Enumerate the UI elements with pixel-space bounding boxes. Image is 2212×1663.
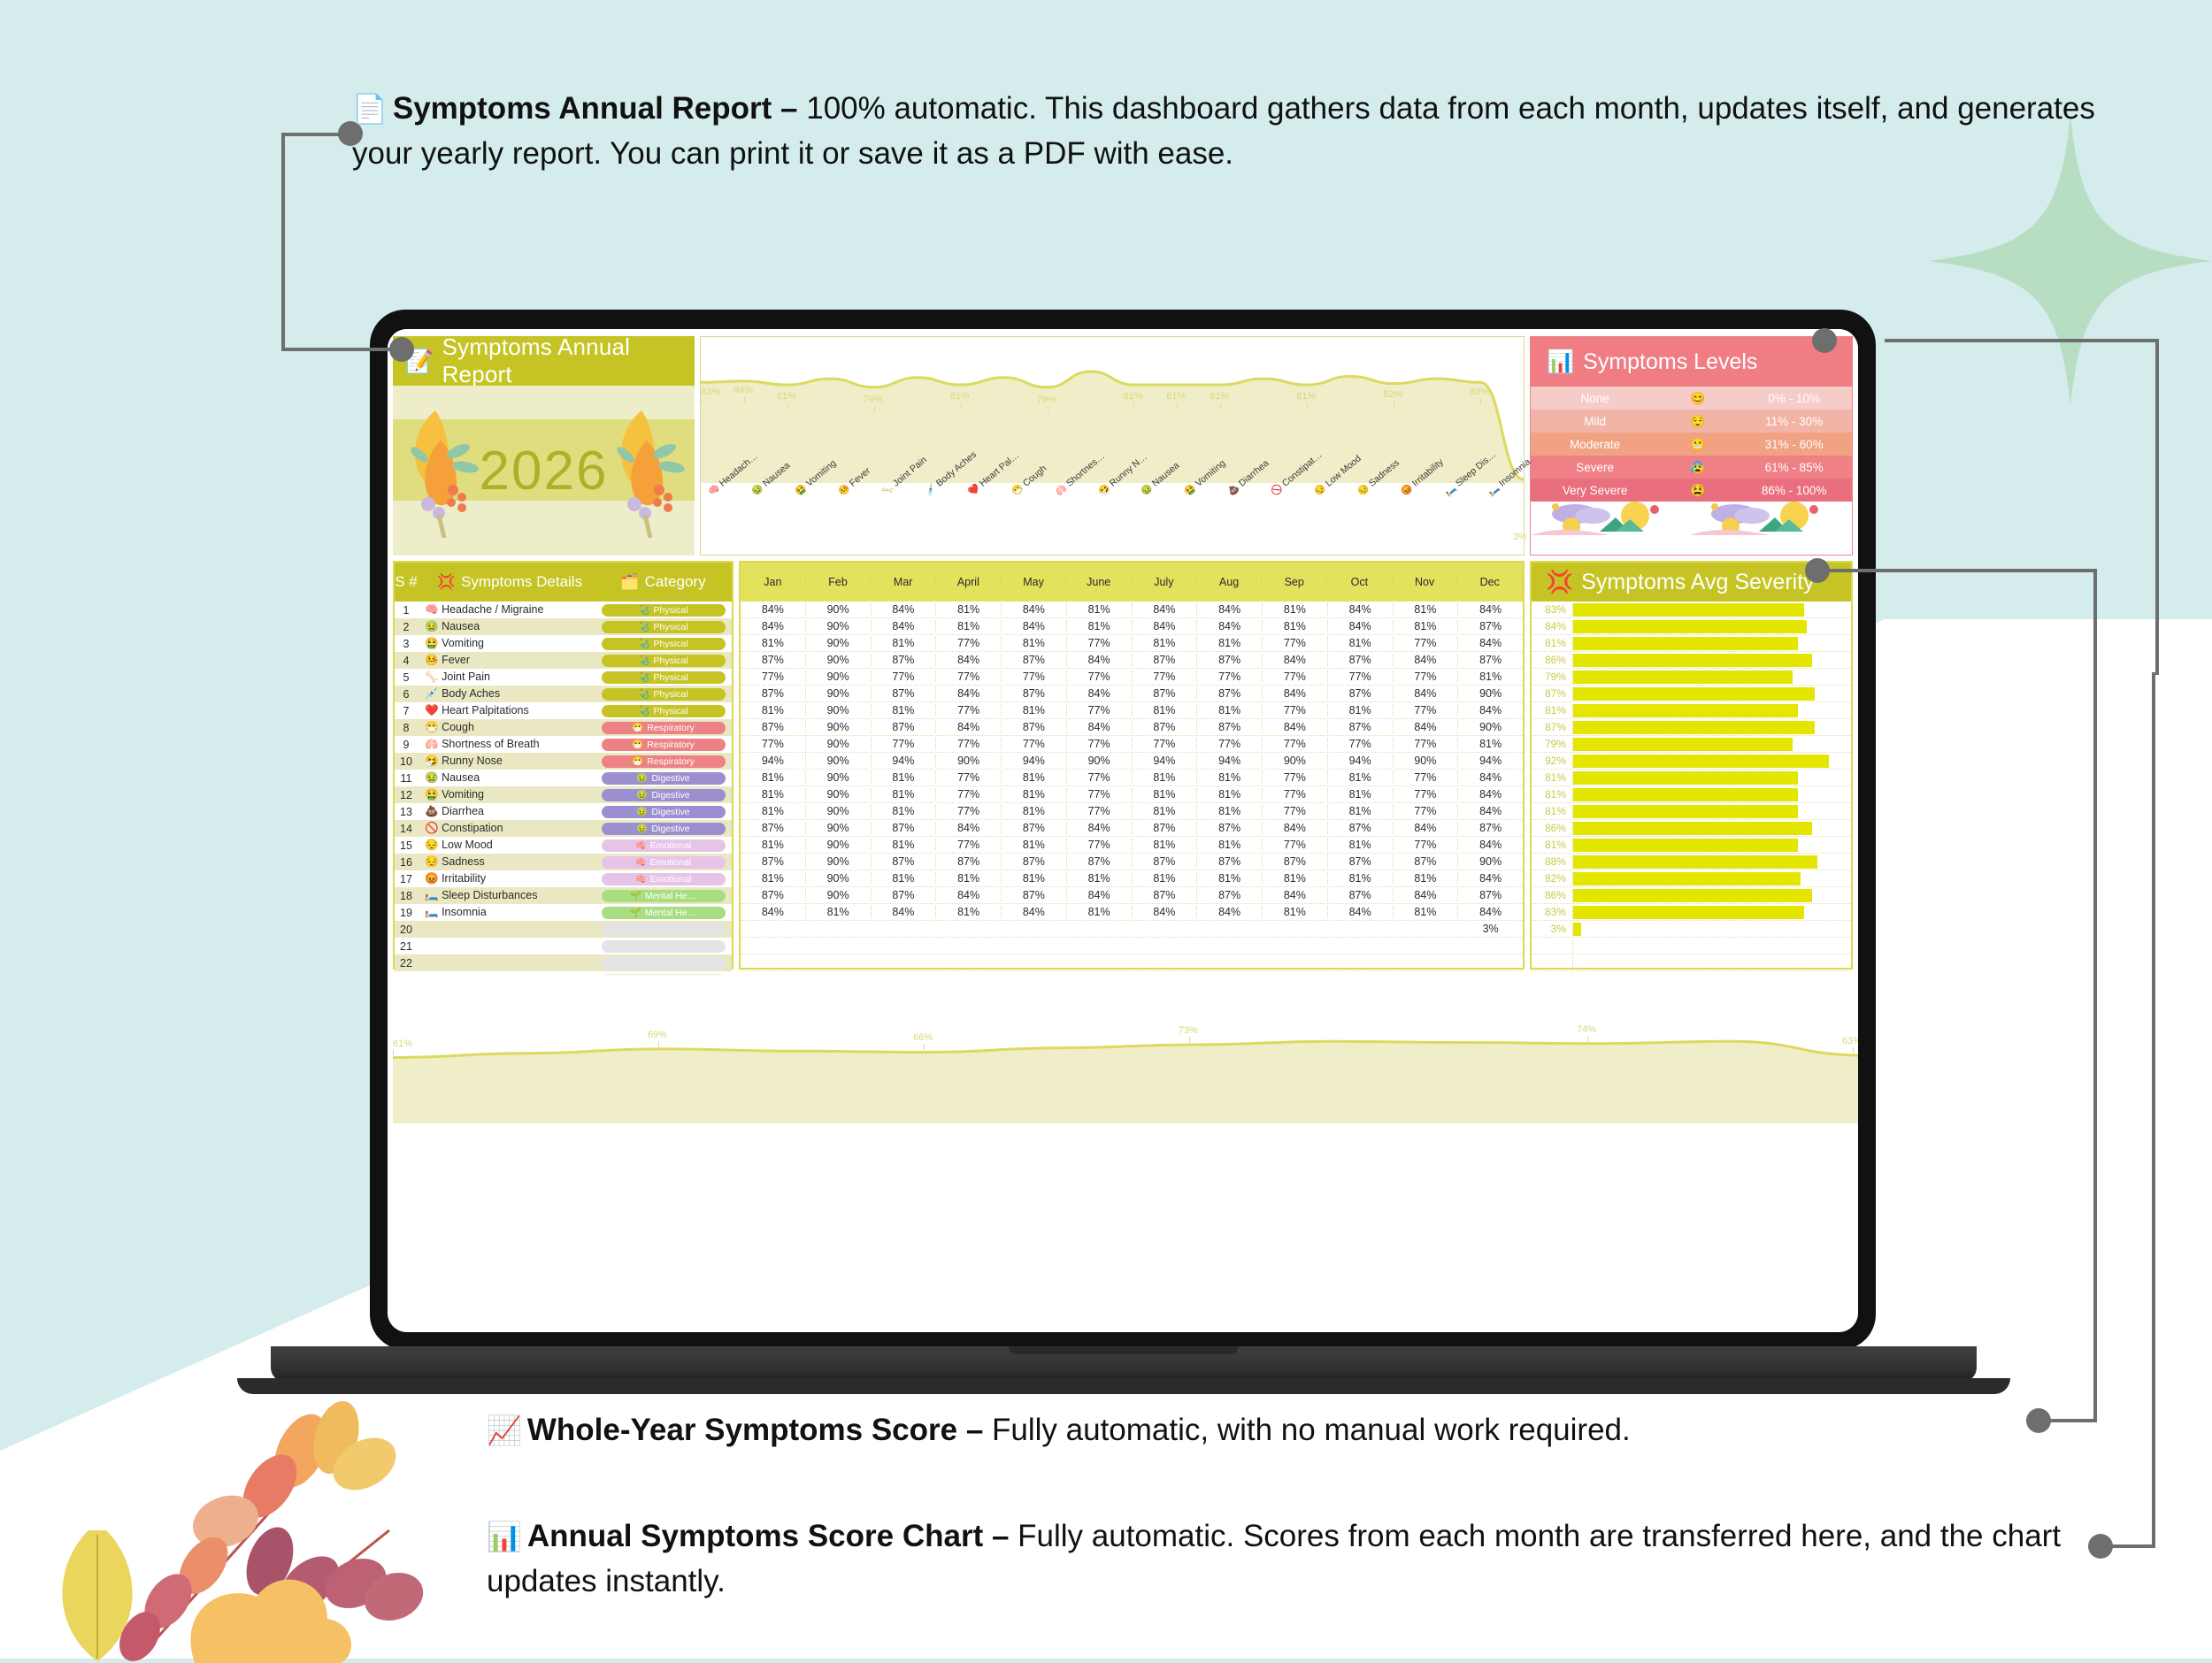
month-data-cell[interactable]: 87% [1458, 654, 1523, 666]
month-data-cell[interactable]: 77% [1067, 704, 1133, 717]
month-data-cell[interactable]: 90% [806, 637, 872, 649]
month-data-cell[interactable]: 81% [1197, 637, 1263, 649]
month-data-cell[interactable]: 77% [1263, 738, 1328, 750]
month-data-cell[interactable]: 87% [1133, 855, 1198, 868]
month-data-cell[interactable]: 90% [1263, 755, 1328, 767]
month-data-cell[interactable]: 84% [1394, 889, 1459, 901]
month-data-cell[interactable]: 81% [1197, 839, 1263, 851]
table-row[interactable]: 2🤢 Nausea🩺Physical [395, 618, 732, 635]
month-data-cell[interactable]: 81% [872, 771, 937, 784]
month-data-cell[interactable]: 90% [806, 671, 872, 683]
month-data-cell[interactable]: 77% [1394, 738, 1459, 750]
month-data-row[interactable]: 87%90%87%84%87%84%87%87%84%87%84%87% [741, 820, 1523, 837]
month-data-cell[interactable]: 81% [1002, 805, 1067, 817]
month-data-cell[interactable]: 77% [1394, 637, 1459, 649]
month-data-row[interactable]: 81%90%81%77%81%77%81%81%77%81%77%84% [741, 635, 1523, 652]
month-data-cell[interactable]: 84% [1002, 620, 1067, 632]
month-data-cell[interactable]: 90% [1458, 855, 1523, 868]
month-data-cell[interactable]: 90% [1394, 755, 1459, 767]
month-data-cell[interactable]: 81% [741, 788, 806, 801]
month-data-cell[interactable]: 84% [1458, 788, 1523, 801]
month-data-row[interactable]: 77%90%77%77%77%77%77%77%77%77%77%81% [741, 736, 1523, 753]
month-data-cell[interactable]: 87% [1133, 822, 1198, 834]
table-row[interactable]: 11🤢 Nausea🤢Digestive [395, 770, 732, 786]
month-data-cell[interactable]: 84% [1328, 603, 1394, 616]
month-data-cell[interactable]: 81% [1197, 771, 1263, 784]
month-data-cell[interactable]: 84% [1133, 906, 1198, 918]
severity-percent: 87% [1532, 687, 1572, 700]
month-data-cell[interactable]: 84% [1458, 839, 1523, 851]
month-data-cell[interactable]: 87% [872, 822, 937, 834]
chart-point-tick [924, 1044, 925, 1052]
month-data-cell[interactable]: 81% [741, 771, 806, 784]
month-data-cell[interactable]: 77% [1394, 771, 1459, 784]
month-data-cell[interactable]: 87% [1002, 687, 1067, 700]
month-data-row[interactable]: 81%90%81%77%81%77%81%81%77%81%77%84% [741, 837, 1523, 854]
table-row[interactable]: 15😔 Low Mood🧠Emotional [395, 837, 732, 854]
table-row[interactable]: 10🤧 Runny Nose😷Respiratory [395, 753, 732, 770]
row-serial: 15 [395, 839, 418, 852]
severity-percent: 86% [1532, 654, 1572, 666]
month-data-cell[interactable]: 84% [1458, 872, 1523, 885]
month-data-cell[interactable]: 84% [1002, 906, 1067, 918]
month-data-row[interactable]: 87%90%87%84%87%84%87%87%84%87%84%87% [741, 887, 1523, 904]
month-data-cell[interactable]: 81% [741, 839, 806, 851]
table-row[interactable]: 21 [395, 938, 732, 954]
month-data-cell[interactable]: 84% [1328, 620, 1394, 632]
month-data-cell[interactable]: 81% [1394, 906, 1459, 918]
month-data-cell[interactable]: 81% [1002, 771, 1067, 784]
callout-dot-botcaption [2088, 1534, 2113, 1559]
month-data-cell[interactable]: 84% [872, 620, 937, 632]
month-data-cell[interactable]: 81% [741, 872, 806, 885]
month-data-cell[interactable]: 90% [806, 620, 872, 632]
category-emoji-icon: 🩺 [638, 638, 649, 649]
month-data-row[interactable] [741, 938, 1523, 954]
month-data-cell[interactable]: 81% [936, 906, 1002, 918]
month-data-cell[interactable]: 87% [1458, 620, 1523, 632]
month-data-cell[interactable]: 87% [1002, 889, 1067, 901]
month-data-cell[interactable]: 81% [936, 620, 1002, 632]
month-data-cell[interactable]: 77% [1394, 704, 1459, 717]
chart-point-tick [658, 1041, 659, 1049]
month-data-cell[interactable]: 84% [936, 654, 1002, 666]
month-data-cell[interactable]: 94% [1002, 755, 1067, 767]
month-data-cell[interactable]: 87% [1458, 822, 1523, 834]
month-data-cell[interactable]: 77% [1263, 771, 1328, 784]
month-data-cell[interactable]: 84% [1067, 654, 1133, 666]
month-data-row[interactable] [741, 954, 1523, 971]
month-data-cell[interactable]: 87% [1197, 822, 1263, 834]
chart-point-label: 74% [1577, 1024, 1596, 1035]
month-data-cell[interactable]: 87% [1002, 822, 1067, 834]
month-data-cell[interactable]: 84% [1458, 603, 1523, 616]
month-data-cell[interactable]: 87% [1328, 721, 1394, 733]
chart-point-tick [1307, 402, 1308, 409]
row-symptom-name: 🧠 Headache / Migraine [418, 603, 595, 617]
month-data-cell[interactable]: 90% [806, 872, 872, 885]
level-row: None😊0% - 10% [1531, 387, 1852, 410]
month-data-cell[interactable]: 81% [1133, 704, 1198, 717]
table-row[interactable]: 12🤮 Vomiting🤢Digestive [395, 786, 732, 803]
month-data-cell[interactable]: 81% [1002, 788, 1067, 801]
month-data-cell[interactable]: 81% [1067, 906, 1133, 918]
month-data-cell[interactable]: 77% [741, 671, 806, 683]
month-data-cell[interactable]: 77% [1197, 738, 1263, 750]
month-data-cell[interactable]: 84% [936, 889, 1002, 901]
month-data-cell[interactable]: 84% [1263, 654, 1328, 666]
month-data-row[interactable]: 84%90%84%81%84%81%84%84%81%84%81%87% [741, 618, 1523, 635]
month-data-cell[interactable]: 84% [1458, 637, 1523, 649]
month-data-row[interactable]: 84%90%84%81%84%81%84%84%81%84%81%84% [741, 602, 1523, 618]
month-data-row[interactable]: 81%90%81%77%81%77%81%81%77%81%77%84% [741, 770, 1523, 786]
month-data-cell[interactable]: 81% [1328, 637, 1394, 649]
month-data-cell[interactable]: 87% [1197, 654, 1263, 666]
month-data-cell[interactable]: 81% [1394, 872, 1459, 885]
month-data-cell[interactable]: 81% [1002, 704, 1067, 717]
month-data-cell[interactable]: 81% [1197, 805, 1263, 817]
month-data-cell[interactable]: 77% [1263, 637, 1328, 649]
month-data-cell[interactable]: 84% [1067, 822, 1133, 834]
month-data-cell[interactable]: 77% [1263, 805, 1328, 817]
month-data-cell[interactable]: 77% [1067, 805, 1133, 817]
month-data-cell[interactable]: 87% [741, 687, 806, 700]
month-data-cell[interactable]: 87% [1067, 855, 1133, 868]
month-data-cell[interactable]: 87% [872, 654, 937, 666]
month-data-cell[interactable]: 87% [936, 855, 1002, 868]
month-data-cell[interactable]: 87% [1002, 721, 1067, 733]
month-data-cell[interactable]: 87% [1197, 889, 1263, 901]
month-data-cell[interactable]: 77% [936, 738, 1002, 750]
month-data-cell[interactable]: 77% [872, 738, 937, 750]
month-data-cell[interactable]: 90% [806, 839, 872, 851]
month-data-cell[interactable]: 81% [1458, 671, 1523, 683]
month-data-cell[interactable]: 81% [1133, 637, 1198, 649]
month-data-cell[interactable]: 77% [936, 671, 1002, 683]
table-row[interactable]: 14🚫 Constipation🤢Digestive [395, 820, 732, 837]
month-data-cell[interactable]: 90% [806, 755, 872, 767]
month-data-cell[interactable]: 81% [1067, 603, 1133, 616]
month-data-cell[interactable]: 87% [1328, 822, 1394, 834]
month-data-cell[interactable]: 81% [1328, 805, 1394, 817]
month-data-cell[interactable]: 90% [806, 721, 872, 733]
month-data-cell[interactable]: 87% [872, 889, 937, 901]
month-data-cell[interactable]: 81% [806, 906, 872, 918]
month-data-cell[interactable]: 81% [1263, 872, 1328, 885]
category-label: Physical [653, 672, 687, 683]
month-data-cell[interactable]: 84% [1328, 906, 1394, 918]
month-data-row[interactable]: 87%90%87%84%87%84%87%87%84%87%84%90% [741, 686, 1523, 702]
month-data-cell[interactable]: 87% [741, 889, 806, 901]
month-data-cell[interactable]: 81% [741, 805, 806, 817]
month-data-cell[interactable]: 87% [1133, 721, 1198, 733]
month-data-cell[interactable]: 81% [872, 704, 937, 717]
month-data-cell[interactable]: 84% [1394, 654, 1459, 666]
month-data-cell[interactable]: 81% [872, 805, 937, 817]
row-symptom-name: 💉 Body Aches [418, 687, 595, 701]
month-data-cell[interactable]: 87% [1263, 855, 1328, 868]
table-row[interactable]: 20 [395, 921, 732, 938]
table-row[interactable]: 22 [395, 954, 732, 971]
table-row[interactable]: 1🧠 Headache / Migraine🩺Physical [395, 602, 732, 618]
month-data-cell[interactable]: 77% [872, 671, 937, 683]
month-data-cell[interactable]: 77% [1067, 671, 1133, 683]
table-row[interactable]: 16😔 Sadness🧠Emotional [395, 854, 732, 870]
month-data-row[interactable]: 94%90%94%90%94%90%94%94%90%94%90%94% [741, 753, 1523, 770]
month-data-cell[interactable]: 77% [1328, 738, 1394, 750]
month-data-cell[interactable]: 77% [741, 738, 806, 750]
month-data-cell[interactable]: 81% [1197, 788, 1263, 801]
month-data-cell[interactable]: 81% [936, 603, 1002, 616]
month-data-cell[interactable]: 81% [741, 704, 806, 717]
month-data-cell[interactable]: 90% [1458, 687, 1523, 700]
month-data-cell[interactable]: 84% [1394, 721, 1459, 733]
month-data-cell[interactable]: 87% [1394, 855, 1459, 868]
month-data-cell[interactable]: 87% [1197, 687, 1263, 700]
month-data-cell[interactable]: 84% [872, 603, 937, 616]
month-data-cell[interactable]: 81% [1394, 620, 1459, 632]
month-data-cell[interactable]: 81% [1133, 788, 1198, 801]
month-data-cell[interactable]: 90% [936, 755, 1002, 767]
month-data-cell[interactable]: 90% [806, 687, 872, 700]
month-data-cell[interactable]: 84% [1002, 603, 1067, 616]
month-data-cell[interactable]: 84% [936, 721, 1002, 733]
month-data-cell[interactable]: 84% [1263, 822, 1328, 834]
month-data-cell[interactable]: 84% [1394, 687, 1459, 700]
category-emoji-icon: 🩺 [638, 604, 649, 616]
month-data-cell[interactable]: 84% [741, 603, 806, 616]
month-data-row[interactable]: 77%90%77%77%77%77%77%77%77%77%77%81% [741, 669, 1523, 686]
month-data-cell[interactable]: 81% [1133, 805, 1198, 817]
month-data-cell[interactable]: 87% [1197, 855, 1263, 868]
month-data-cell[interactable]: 87% [1458, 889, 1523, 901]
month-data-cell[interactable]: 87% [1197, 721, 1263, 733]
month-data-cell[interactable]: 90% [806, 889, 872, 901]
month-data-cell[interactable]: 81% [1263, 906, 1328, 918]
month-header-cell: Sep [1262, 576, 1327, 588]
month-data-cell[interactable]: 81% [1328, 704, 1394, 717]
month-data-cell[interactable]: 77% [1394, 805, 1459, 817]
month-data-cell[interactable]: 77% [1067, 788, 1133, 801]
month-data-cell[interactable]: 84% [1067, 889, 1133, 901]
month-data-cell[interactable]: 77% [936, 771, 1002, 784]
month-data-cell[interactable]: 87% [1133, 654, 1198, 666]
month-data-cell[interactable]: 81% [872, 637, 937, 649]
month-data-cell[interactable]: 84% [741, 620, 806, 632]
month-data-cell[interactable]: 84% [741, 906, 806, 918]
month-data-cell[interactable]: 94% [1458, 755, 1523, 767]
month-data-cell[interactable]: 3% [1458, 923, 1523, 935]
month-data-row[interactable]: 81%90%81%81%81%81%81%81%81%81%81%84% [741, 870, 1523, 887]
month-data-cell[interactable]: 77% [1263, 704, 1328, 717]
month-data-cell[interactable]: 81% [1133, 771, 1198, 784]
month-data-cell[interactable]: 81% [872, 872, 937, 885]
month-data-row[interactable]: 81%90%81%77%81%77%81%81%77%81%77%84% [741, 786, 1523, 803]
month-data-cell[interactable]: 81% [1328, 771, 1394, 784]
month-data-row[interactable]: 87%90%87%87%87%87%87%87%87%87%87%90% [741, 854, 1523, 870]
month-data-cell[interactable]: 87% [741, 855, 806, 868]
month-data-cell[interactable]: 81% [1067, 872, 1133, 885]
level-emoji-icon: 😊 [1659, 391, 1736, 406]
month-data-cell[interactable]: 87% [1133, 889, 1198, 901]
month-data-cell[interactable]: 87% [1328, 889, 1394, 901]
month-data-cell[interactable]: 84% [1458, 771, 1523, 784]
month-data-cell[interactable]: 77% [1067, 738, 1133, 750]
month-data-cell[interactable]: 81% [741, 637, 806, 649]
month-data-cell[interactable]: 84% [1133, 603, 1198, 616]
month-data-cell[interactable]: 90% [1458, 721, 1523, 733]
month-data-cell[interactable]: 90% [1067, 755, 1133, 767]
month-data-cell[interactable]: 81% [1394, 603, 1459, 616]
month-data-cell[interactable]: 90% [806, 654, 872, 666]
month-data-cell[interactable]: 94% [1133, 755, 1198, 767]
month-data-cell[interactable]: 81% [1067, 620, 1133, 632]
month-data-cell[interactable]: 90% [806, 771, 872, 784]
month-data-cell[interactable]: 81% [1197, 872, 1263, 885]
month-data-cell[interactable]: 77% [1328, 671, 1394, 683]
month-data-cell[interactable]: 84% [1458, 805, 1523, 817]
month-data-cell[interactable]: 87% [1328, 654, 1394, 666]
month-data-cell[interactable]: 81% [1328, 788, 1394, 801]
month-data-cell[interactable]: 94% [872, 755, 937, 767]
month-data-cell[interactable]: 84% [1458, 704, 1523, 717]
table-row[interactable]: 7❤️ Heart Palpitations🩺Physical [395, 702, 732, 719]
table-row[interactable]: 3🤮 Vomiting🩺Physical [395, 635, 732, 652]
month-data-row[interactable]: 81%90%81%77%81%77%81%81%77%81%77%84% [741, 803, 1523, 820]
month-data-cell[interactable]: 81% [1263, 603, 1328, 616]
category-emoji-icon: 🧠 [635, 839, 647, 851]
table-row[interactable]: 17😡 Irritability🧠Emotional [395, 870, 732, 887]
category-label: Digestive [651, 790, 689, 801]
month-data-cell[interactable]: 84% [1263, 687, 1328, 700]
xaxis-emoji-icon: 😷 [1010, 482, 1025, 498]
month-data-cell[interactable]: 90% [806, 788, 872, 801]
month-data-cell[interactable]: 81% [1458, 738, 1523, 750]
month-data-cell[interactable]: 90% [806, 805, 872, 817]
month-data-cell[interactable]: 81% [1133, 872, 1198, 885]
month-data-cell[interactable]: 84% [1394, 822, 1459, 834]
symptom-label: Constipation [442, 822, 503, 834]
row-category: 🧠Emotional [595, 873, 732, 885]
month-data-cell[interactable]: 77% [1067, 637, 1133, 649]
table-row[interactable]: 8😷 Cough😷Respiratory [395, 719, 732, 736]
month-data-cell[interactable]: 84% [936, 822, 1002, 834]
month-data-cell[interactable]: 77% [1263, 788, 1328, 801]
month-data-cell[interactable]: 77% [1263, 839, 1328, 851]
month-data-cell[interactable]: 77% [1002, 671, 1067, 683]
month-data-cell[interactable]: 81% [1197, 704, 1263, 717]
month-data-cell[interactable]: 87% [872, 687, 937, 700]
month-data-cell[interactable]: 77% [1263, 671, 1328, 683]
month-data-cell[interactable]: 77% [936, 788, 1002, 801]
month-data-cell[interactable]: 87% [1002, 855, 1067, 868]
month-data-cell[interactable]: 77% [1133, 671, 1198, 683]
month-data-cell[interactable]: 94% [1328, 755, 1394, 767]
month-data-cell[interactable]: 77% [936, 805, 1002, 817]
month-data-cell[interactable]: 90% [806, 822, 872, 834]
month-data-cell[interactable]: 77% [1394, 839, 1459, 851]
month-data-row[interactable]: 81%90%81%77%81%77%81%81%77%81%77%84% [741, 702, 1523, 719]
month-data-cell[interactable]: 90% [806, 603, 872, 616]
month-data-cell[interactable]: 84% [1263, 721, 1328, 733]
table-row[interactable]: 19🛏️ Insomnia🌱Mental He… [395, 904, 732, 921]
month-data-cell[interactable]: 90% [806, 855, 872, 868]
month-data-cell[interactable]: 87% [741, 721, 806, 733]
month-data-cell[interactable]: 87% [1328, 855, 1394, 868]
table-row[interactable]: 18🛏️ Sleep Disturbances🌱Mental He… [395, 887, 732, 904]
month-data-cell[interactable]: 81% [1133, 839, 1198, 851]
month-data-cell[interactable]: 77% [1133, 738, 1198, 750]
month-data-cell[interactable]: 84% [1263, 889, 1328, 901]
month-data-cell[interactable]: 87% [741, 654, 806, 666]
month-data-cell[interactable]: 81% [872, 788, 937, 801]
month-data-cell[interactable]: 87% [872, 855, 937, 868]
month-data-cell[interactable]: 84% [1133, 620, 1198, 632]
row-serial: 10 [395, 755, 418, 768]
month-data-cell[interactable]: 77% [1394, 788, 1459, 801]
month-data-cell[interactable]: 84% [1197, 603, 1263, 616]
month-data-cell[interactable]: 77% [936, 704, 1002, 717]
month-data-cell[interactable]: 87% [1133, 687, 1198, 700]
month-data-row[interactable]: 87%90%87%84%87%84%87%87%84%87%84%90% [741, 719, 1523, 736]
month-data-cell[interactable]: 87% [872, 721, 937, 733]
month-data-row[interactable]: 3% [741, 921, 1523, 938]
month-data-cell[interactable]: 81% [872, 839, 937, 851]
month-data-row[interactable]: 84%81%84%81%84%81%84%84%81%84%81%84% [741, 904, 1523, 921]
month-data-cell[interactable]: 84% [1197, 906, 1263, 918]
month-data-cell[interactable]: 87% [741, 822, 806, 834]
month-data-cell[interactable]: 81% [1328, 872, 1394, 885]
severity-percent: 83% [1532, 603, 1572, 616]
month-data-cell[interactable]: 84% [1458, 906, 1523, 918]
month-data-cell[interactable]: 77% [1394, 671, 1459, 683]
month-data-cell[interactable]: 77% [1197, 671, 1263, 683]
month-data-cell[interactable]: 81% [1002, 872, 1067, 885]
month-data-cell[interactable]: 84% [936, 687, 1002, 700]
month-data-cell[interactable]: 87% [1002, 654, 1067, 666]
month-data-cell[interactable]: 77% [936, 839, 1002, 851]
month-data-cell[interactable]: 81% [1263, 620, 1328, 632]
month-data-cell[interactable]: 90% [806, 704, 872, 717]
month-data-cell[interactable]: 81% [1002, 637, 1067, 649]
month-data-cell[interactable]: 94% [1197, 755, 1263, 767]
month-data-cell[interactable]: 77% [1002, 738, 1067, 750]
month-data-cell[interactable]: 90% [806, 738, 872, 750]
month-data-cell[interactable]: 77% [1067, 839, 1133, 851]
table-row[interactable]: 4🤒 Fever🩺Physical [395, 652, 732, 669]
table-row[interactable]: 5🦴 Joint Pain🩺Physical [395, 669, 732, 686]
month-data-cell[interactable]: 87% [1328, 687, 1394, 700]
table-row[interactable]: 6💉 Body Aches🩺Physical [395, 686, 732, 702]
month-data-cell[interactable]: 81% [1328, 839, 1394, 851]
month-data-cell[interactable]: 84% [872, 906, 937, 918]
category-label: Digestive [651, 807, 689, 817]
month-data-cell[interactable]: 94% [741, 755, 806, 767]
month-data-cell[interactable]: 81% [936, 872, 1002, 885]
month-data-cell[interactable]: 77% [936, 637, 1002, 649]
row-symptom-name: 🚫 Constipation [418, 822, 595, 835]
table-row[interactable]: 9🫁 Shortness of Breath😷Respiratory [395, 736, 732, 753]
month-data-cell[interactable]: 84% [1067, 721, 1133, 733]
severity-percent: 79% [1532, 671, 1572, 683]
screen: 📝 Symptoms Annual Report [388, 329, 1858, 1332]
month-data-cell[interactable]: 84% [1197, 620, 1263, 632]
month-data-cell[interactable]: 77% [1067, 771, 1133, 784]
month-data-cell[interactable]: 81% [1002, 839, 1067, 851]
table-row[interactable]: 13💩 Diarrhea🤢Digestive [395, 803, 732, 820]
month-data-row[interactable]: 87%90%87%84%87%84%87%87%84%87%84%87% [741, 652, 1523, 669]
month-data-cell[interactable]: 84% [1067, 687, 1133, 700]
